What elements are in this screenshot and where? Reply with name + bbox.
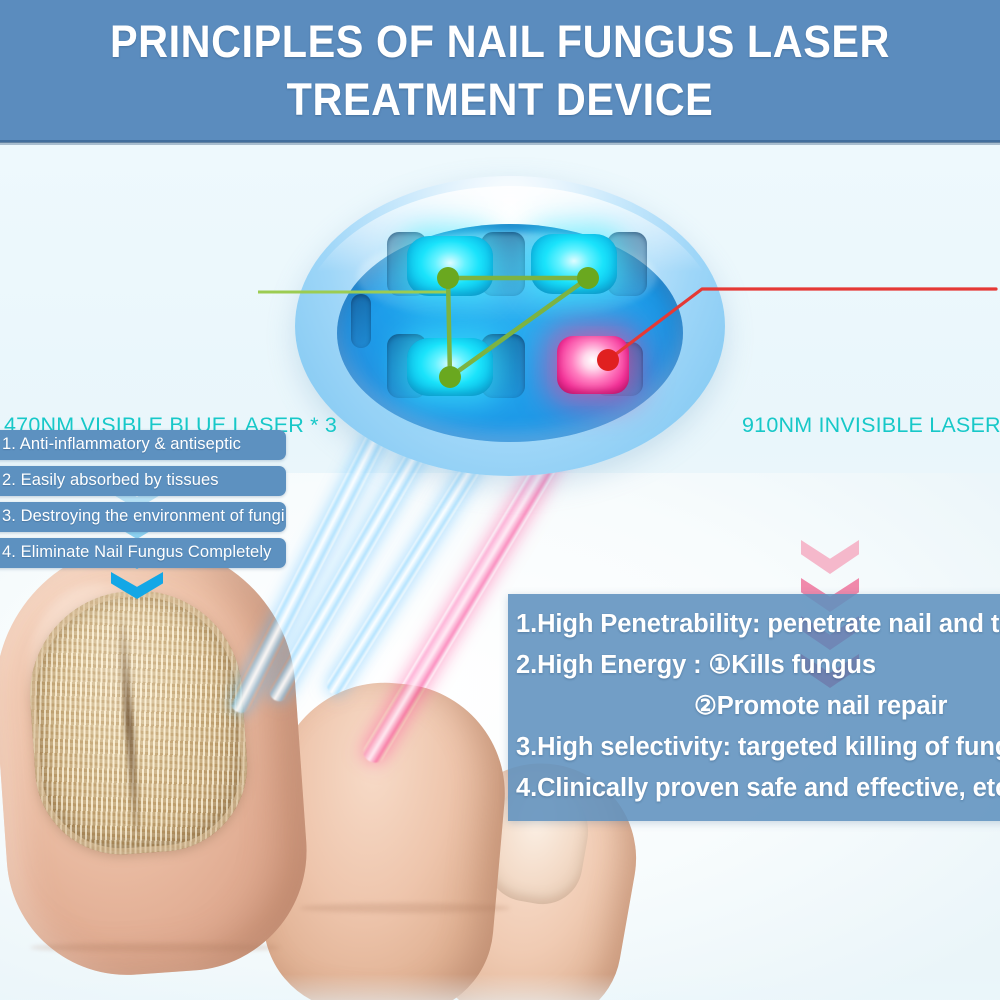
banner-underline: [0, 140, 1000, 143]
feature-row: 4.Clinically proven safe and effective, …: [516, 768, 1000, 809]
benefit-item: 4. Eliminate Nail Fungus Completely: [0, 538, 286, 568]
title-banner: PRINCIPLES OF NAIL FUNGUS LASER TREATMEN…: [0, 0, 1000, 142]
benefit-item: 3. Destroying the environment of fungi: [0, 502, 286, 532]
benefit-item: 2. Easily absorbed by tissues: [0, 466, 286, 496]
infrared-laser-emitter: [557, 336, 629, 394]
blue-laser-emitter: [531, 234, 617, 294]
title-line-2: TREATMENT DEVICE: [40, 74, 960, 126]
feature-row: 3.High selectivity: targeted killing of …: [516, 727, 1000, 768]
infographic-root: PRINCIPLES OF NAIL FUNGUS LASER TREATMEN…: [0, 0, 1000, 1000]
blue-laser-emitter: [407, 236, 493, 296]
illustration-scene: 470NM VISIBLE BLUE LASER * 3 910NM INVIS…: [0, 143, 1000, 1000]
feature-row: 1.High Penetrability: penetrate nail and…: [516, 604, 1000, 645]
label-invisible-laser: 910NM INVISIBLE LASER: [742, 413, 1000, 438]
feature-row: 2.High Energy : ①Kills fungus: [516, 645, 1000, 686]
blue-laser-emitter: [407, 338, 493, 396]
chevron-down-icon: [801, 540, 859, 574]
title-line-1: PRINCIPLES OF NAIL FUNGUS LASER: [40, 16, 960, 68]
bottom-fade: [0, 974, 1000, 1000]
features-panel: 1.High Penetrability: penetrate nail and…: [508, 594, 1000, 821]
chevron-down-icon: [111, 572, 163, 599]
benefits-list: 1. Anti-inflammatory & antiseptic 2. Eas…: [0, 430, 286, 574]
device-slot: [351, 294, 371, 348]
feature-row: ②Promote nail repair: [516, 686, 1000, 727]
laser-device-head: [295, 176, 725, 476]
benefit-item: 1. Anti-inflammatory & antiseptic: [0, 430, 286, 460]
